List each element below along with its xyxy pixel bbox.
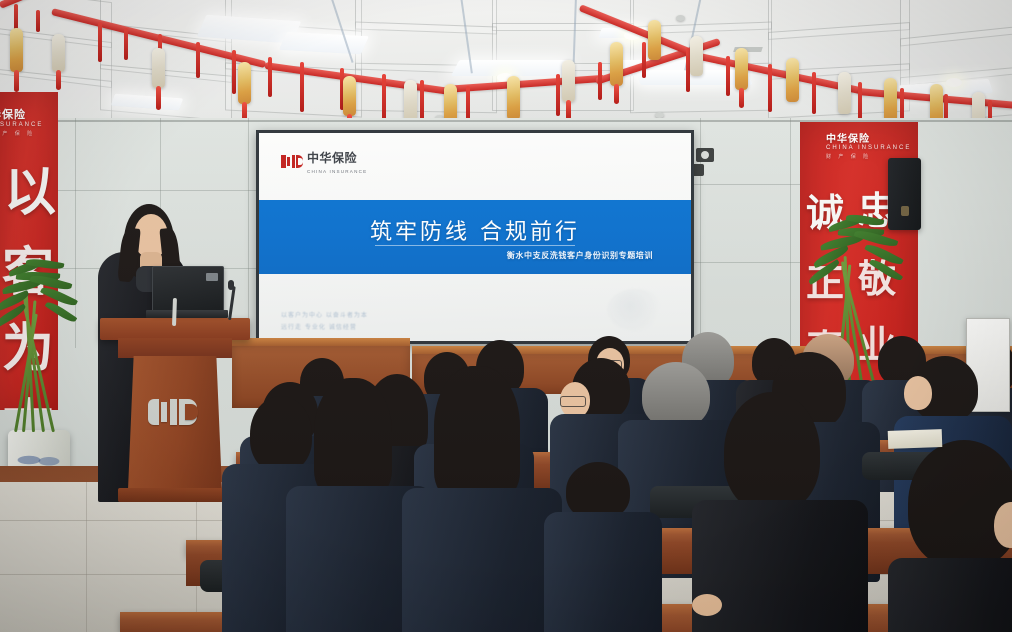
podium-logo-cic <box>148 398 204 426</box>
podium-base <box>118 488 232 502</box>
person-hand <box>692 594 722 616</box>
person-hair <box>314 378 392 496</box>
hanging-ornament <box>690 36 703 76</box>
person-torso <box>402 488 562 632</box>
banner-right-logo: 中华保险 CHINA INSURANCE 财 产 保 险 <box>826 130 911 160</box>
smoke-detector <box>676 15 685 21</box>
hanging-ornament <box>343 76 356 116</box>
camera-lens-icon <box>701 151 709 159</box>
photo-scene: 华保险 INSURANCE 财 产 保 险 以 客 为 本 中华保险 CHINA… <box>0 0 1012 632</box>
slide-brand-name-cn: 中华保险 <box>307 151 357 165</box>
slide-footer: 以客户为中心 以奋斗者为本 远行走 专业化 诚信经营 <box>281 310 368 333</box>
projection-screen-frame: 中华保险 CHINA INSURANCE 筑牢防线 合规前行 衡水中支反洗钱客户… <box>256 130 694 344</box>
stage-side-panel-lip <box>232 338 410 346</box>
banner-left-logo-en: INSURANCE <box>0 122 43 128</box>
laptop-badge <box>206 273 218 281</box>
laptop-base[interactable] <box>146 310 228 318</box>
hanging-ornament <box>884 78 897 122</box>
person-head <box>904 376 932 410</box>
banner-right-logo-cn: 中华保险 <box>826 134 870 145</box>
cic-logo-mark-icon <box>281 155 303 168</box>
slide-brand-text: 中华保险 CHINA INSURANCE <box>307 149 367 174</box>
person-hair <box>724 392 820 512</box>
hanging-ornament <box>735 48 748 90</box>
hanging-ornament <box>238 62 251 104</box>
hanging-ornament <box>52 34 65 72</box>
podium-neck <box>118 338 232 358</box>
slide-footer-line-1: 以客户为中心 以奋斗者为本 <box>281 310 368 321</box>
person-torso <box>544 512 662 632</box>
slide-subtitle: 衡水中支反洗钱客户身份识别专题培训 <box>507 250 653 261</box>
person-hair <box>642 362 710 428</box>
banner-left-logo: 华保险 INSURANCE 财 产 保 险 <box>0 106 43 137</box>
person-hair <box>908 440 1012 568</box>
desk-notebook[interactable] <box>888 429 943 449</box>
hanging-ornament <box>786 58 799 102</box>
hanging-ornament <box>404 80 417 122</box>
slide-brand-logo: 中华保险 CHINA INSURANCE <box>281 149 367 174</box>
slide-watermark <box>607 289 665 331</box>
hanging-ornament <box>10 28 23 72</box>
podium-microphone-head <box>228 280 234 290</box>
slide-footer-line-2: 远行走 专业化 诚信经营 <box>281 322 368 333</box>
slide-title-band: 筑牢防线 合规前行 衡水中支反洗钱客户身份识别专题培训 <box>259 200 691 274</box>
slide-title-rule <box>375 245 575 246</box>
person-torso <box>692 500 868 632</box>
banner-left-char-1: 以 <box>4 150 56 225</box>
hanging-ornament <box>507 76 520 120</box>
hanging-ornament <box>562 60 575 102</box>
hanging-ornament <box>152 48 165 88</box>
person-hair <box>434 366 520 498</box>
banner-right-logo-en: CHINA INSURANCE <box>826 145 911 151</box>
projected-slide: 中华保险 CHINA INSURANCE 筑牢防线 合规前行 衡水中支反洗钱客户… <box>259 133 691 341</box>
banner-left-logo-cn: 华保险 <box>0 109 26 121</box>
wall-speaker <box>888 158 921 230</box>
hanging-ornament <box>838 72 851 114</box>
hanging-ornament <box>610 42 623 86</box>
person-glasses <box>560 396 586 407</box>
slide-brand-name-en: CHINA INSURANCE <box>307 169 367 174</box>
banner-left-logo-sub: 财 产 保 险 <box>0 130 43 137</box>
slide-title: 筑牢防线 合规前行 <box>259 214 691 246</box>
ceiling-spot-light <box>946 78 962 87</box>
hanging-ornament <box>648 20 661 60</box>
person-hair <box>250 396 312 472</box>
person-torso <box>888 558 1012 632</box>
laptop-screen <box>152 266 224 314</box>
